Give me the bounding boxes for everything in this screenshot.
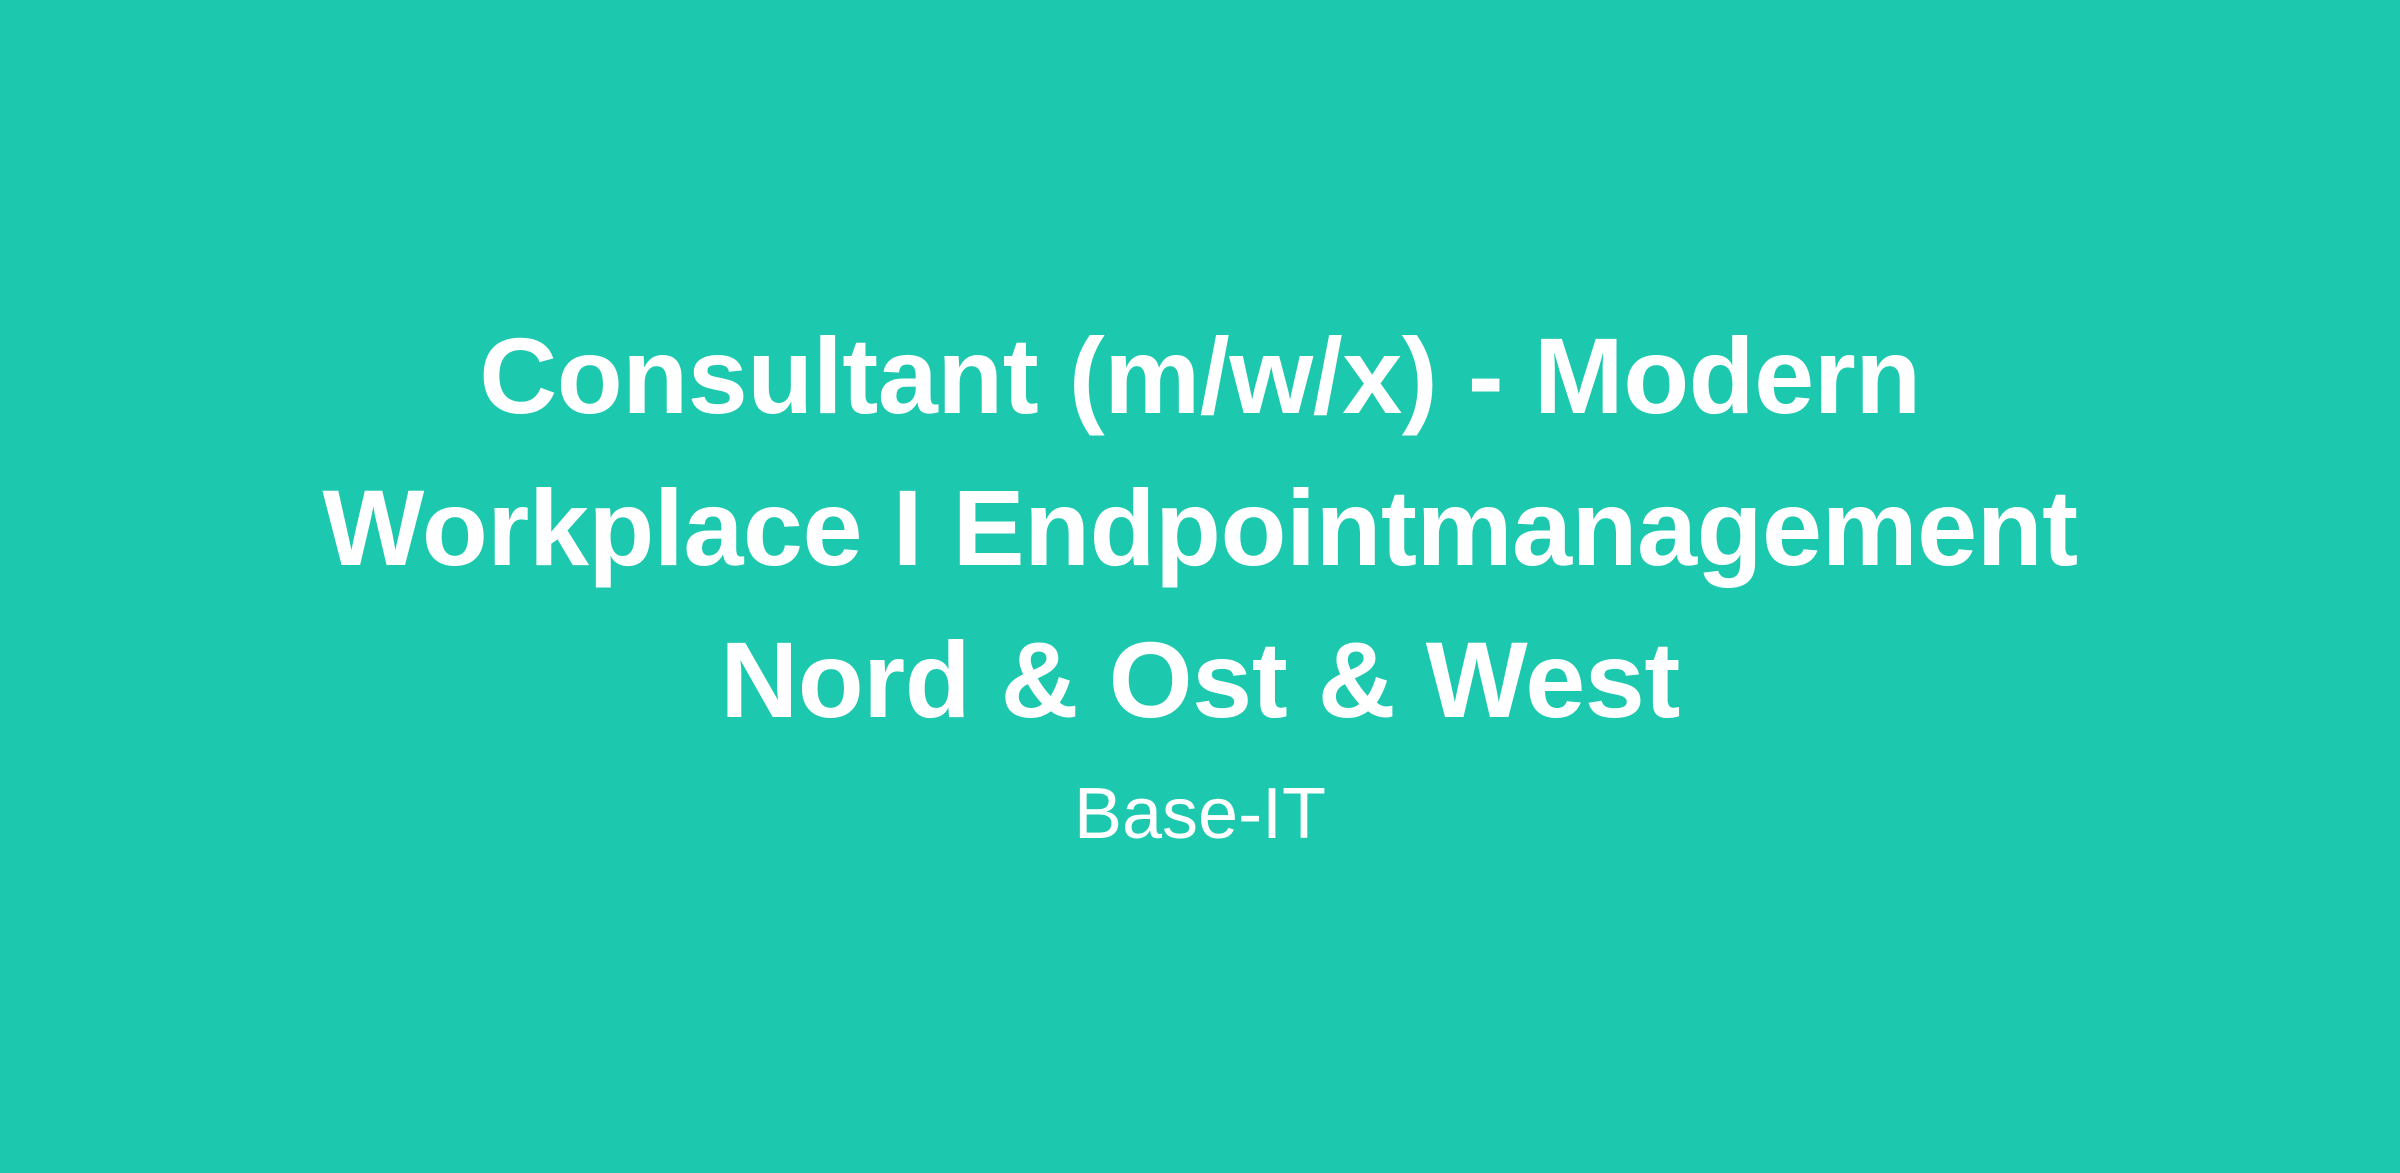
hero-content: Consultant (m/w/x) - Modern Workplace I …: [320, 300, 2080, 858]
job-hero-banner: Consultant (m/w/x) - Modern Workplace I …: [0, 0, 2400, 1173]
company-name: Base-IT: [1074, 770, 1326, 858]
job-title: Consultant (m/w/x) - Modern Workplace I …: [320, 300, 2080, 756]
